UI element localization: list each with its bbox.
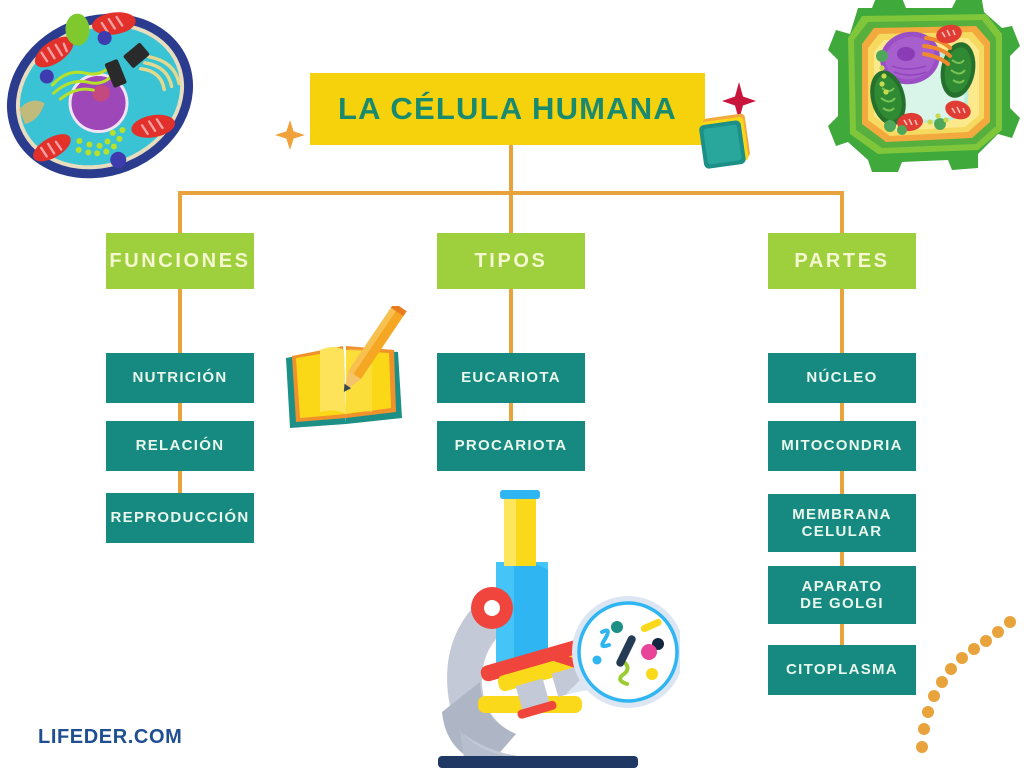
item-partes-citoplasma[interactable]: CITOPLASMA	[768, 645, 916, 695]
item-label: RELACIÓN	[136, 437, 225, 454]
main-title-banner: LA CÉLULA HUMANA	[310, 73, 705, 145]
item-partes-mitocondria[interactable]: MITOCONDRIA	[768, 421, 916, 471]
infographic-canvas: LA CÉLULA HUMANA FUNCIONES NUTRICIÓN REL…	[0, 0, 1024, 768]
dotted-arc-decoration	[898, 596, 1024, 768]
plant-cell-illustration	[796, 0, 1024, 199]
item-label: REPRODUCCIÓN	[111, 509, 250, 526]
closed-book-icon	[698, 110, 754, 177]
category-label-tipos: TIPOS	[474, 250, 547, 273]
item-label: PROCARIOTA	[455, 437, 568, 454]
item-partes-membrana-celular[interactable]: MEMBRANA CELULAR	[768, 494, 916, 552]
category-header-tipos[interactable]: TIPOS	[437, 233, 585, 289]
book-pencil-illustration	[276, 306, 416, 436]
item-label: CITOPLASMA	[786, 661, 898, 678]
item-funciones-reproduccion[interactable]: REPRODUCCIÓN	[106, 493, 254, 543]
item-tipos-eucariota[interactable]: EUCARIOTA	[437, 353, 585, 403]
item-label: MEMBRANA CELULAR	[792, 506, 892, 541]
item-partes-aparato-de-golgi[interactable]: APARATO DE GOLGI	[768, 566, 916, 624]
category-label-partes: PARTES	[794, 250, 889, 273]
category-header-partes[interactable]: PARTES	[768, 233, 916, 289]
item-label: MITOCONDRIA	[781, 437, 903, 454]
lifeder-logo[interactable]: LIFEDER.COM	[38, 726, 182, 749]
microscope-illustration	[424, 484, 680, 768]
item-funciones-nutricion[interactable]: NUTRICIÓN	[106, 353, 254, 403]
item-label: NÚCLEO	[806, 369, 877, 386]
connector-drop-tipos	[509, 191, 513, 233]
animal-cell-illustration	[0, 0, 203, 206]
sparkle-orange-icon	[275, 120, 305, 155]
item-tipos-procariota[interactable]: PROCARIOTA	[437, 421, 585, 471]
item-label: NUTRICIÓN	[132, 369, 227, 386]
item-funciones-relacion[interactable]: RELACIÓN	[106, 421, 254, 471]
item-label: EUCARIOTA	[461, 369, 561, 386]
category-header-funciones[interactable]: FUNCIONES	[106, 233, 254, 289]
item-label: APARATO DE GOLGI	[800, 578, 884, 613]
item-partes-nucleo[interactable]: NÚCLEO	[768, 353, 916, 403]
connector-spine-partes	[840, 288, 844, 688]
connector-root-stem	[509, 145, 513, 193]
page-title: LA CÉLULA HUMANA	[338, 91, 677, 127]
category-label-funciones: FUNCIONES	[109, 250, 250, 273]
